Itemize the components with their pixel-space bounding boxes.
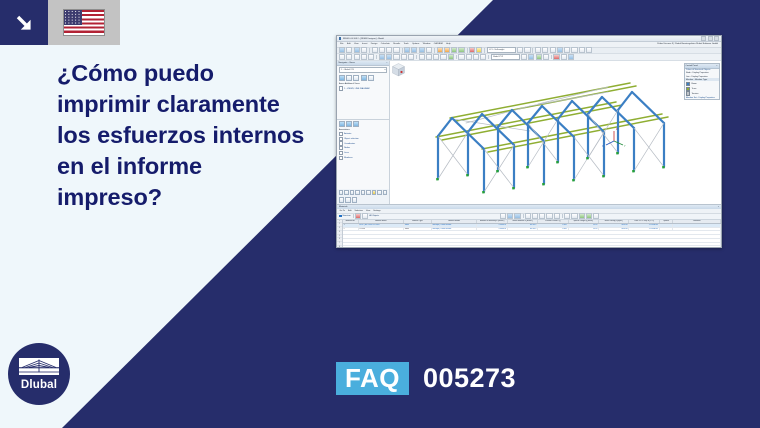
clipping-icon[interactable] (473, 54, 479, 60)
warnings-icon[interactable] (476, 47, 482, 53)
us-flag-icon (48, 0, 120, 45)
grid-icon[interactable] (411, 47, 417, 53)
license-label: Dlubal License 3 | Dlubal Beratungsbüro … (657, 43, 718, 45)
cell-material-model-2[interactable]: Isotropic | Linear Elastic (432, 228, 478, 231)
section-tool-icon[interactable] (393, 54, 399, 60)
free-load-icon[interactable] (440, 54, 446, 60)
title-line-5: impreso? (57, 182, 342, 213)
cell-comment-2[interactable] (673, 228, 721, 231)
annotation-edit-icon[interactable] (346, 121, 352, 127)
stop-icon[interactable] (553, 54, 559, 60)
view-orientation-cube[interactable] (390, 61, 407, 78)
menu-item-help[interactable]: Help (446, 43, 450, 45)
title-line-1: ¿Cómo puedo (57, 58, 342, 89)
legend-label-tension: Tension (691, 93, 698, 95)
annotation-label-0: Activate (344, 133, 351, 135)
toolbar2-separator-5 (551, 55, 552, 59)
material-tool-icon[interactable] (401, 54, 407, 60)
row-number: 8 (337, 246, 342, 248)
menu-item-options[interactable]: Options (412, 43, 419, 45)
toolbar2-separator-4 (488, 55, 489, 59)
cell-material-name-2[interactable]: C25/30 (359, 228, 405, 231)
open-icon[interactable] (346, 47, 352, 53)
nav-btn-7-icon[interactable] (372, 190, 376, 195)
flag-stars (64, 10, 82, 25)
menu-item-design[interactable]: Design (371, 43, 378, 45)
svg-text:Y: Y (624, 145, 626, 148)
view-edit-icon[interactable] (346, 75, 352, 81)
app-screenshot: RFEM 6.02.0012 - [RFEM Designer] - Model… (336, 35, 722, 248)
table-export-icon[interactable] (564, 213, 570, 219)
navigator-view-value: 1 - Global XYZ (341, 68, 354, 72)
menu-item-tools[interactable]: Tools (404, 43, 409, 45)
empty-cell[interactable] (343, 235, 721, 238)
table-structure-label: Structure (342, 215, 350, 217)
control-panel-title: Control Panel (686, 65, 698, 67)
toolbar-separator-6 (532, 48, 533, 52)
results-icon[interactable] (458, 47, 464, 53)
solid-tool-icon[interactable] (368, 54, 374, 60)
cell-material-name[interactable]: S235 | EN 1993-1-1:2005 (359, 224, 405, 227)
menu-item-calculate[interactable]: Calculate (381, 43, 390, 45)
empty-cell[interactable] (343, 239, 721, 242)
member-tool-icon[interactable] (354, 54, 360, 60)
window-controls[interactable] (701, 36, 719, 41)
nodal-load-icon[interactable] (419, 54, 425, 60)
table-delete-row-icon[interactable] (532, 213, 538, 219)
table-menu-settings[interactable]: Settings (373, 210, 380, 212)
table-filter-label: All Objects (369, 215, 379, 217)
table-print-icon[interactable] (571, 213, 577, 219)
structure-icon (339, 215, 342, 218)
cell-g-modulus-2[interactable]: 80769.2 (508, 228, 538, 231)
table-settings-icon[interactable] (593, 213, 599, 219)
arrow-down-right-icon (0, 0, 48, 45)
rotate-icon[interactable] (557, 47, 563, 53)
surface-load-icon[interactable] (433, 54, 439, 60)
supports-icon[interactable] (444, 47, 450, 53)
annotation-delete-icon[interactable] (353, 121, 359, 127)
tree-item-label: 1 - VIEWS, LINE DIAGRAM (344, 88, 369, 90)
cell-thermal-exp-2[interactable]: 1.2000E-05 (629, 228, 659, 231)
annotation-label-4: Lines (344, 152, 349, 154)
table-grid[interactable]: 1 2 3 4 5 6 7 8 9 10 11 12 13 14 (337, 220, 721, 248)
nav-btn-6-icon[interactable] (366, 190, 370, 195)
table-insert-row-icon[interactable] (525, 213, 531, 219)
imperfection-icon[interactable] (448, 54, 454, 60)
navigator-bottom-toolbar-2[interactable] (337, 196, 389, 203)
cell-mass-density[interactable]: 7850.00 (599, 224, 629, 227)
menu-item-edit[interactable]: Edit (347, 43, 351, 45)
axis-triad-icon: Z Y X (602, 128, 626, 148)
annotations-toolbar[interactable] (337, 120, 389, 128)
grid-columns: Material No. Material Name Material Type… (343, 220, 721, 248)
col-header-thermal-exp: Coeff. of Th. Exp. α [1/°C] (629, 220, 659, 223)
page-title: ¿Cómo puedo imprimir claramente los esfu… (57, 58, 342, 213)
cs-delete-icon[interactable] (543, 54, 549, 60)
nav-btn-5-icon[interactable] (361, 190, 365, 195)
empty-cell[interactable] (343, 243, 721, 246)
toolbar2-separator-2 (416, 55, 417, 59)
nav2-btn-2-icon[interactable] (345, 197, 350, 202)
surface-tool-icon[interactable] (361, 54, 367, 60)
cell-options-2[interactable] (660, 228, 674, 231)
legend-swatch-truss (686, 87, 691, 91)
toolbar-separator-2 (402, 48, 403, 52)
model-viewport[interactable]: Z Y X Control Panel × (390, 61, 721, 204)
zoom-in-icon[interactable] (535, 47, 541, 53)
cell-specific-weight-2[interactable]: 78.50 (569, 228, 599, 231)
cell-e-modulus[interactable]: 210000.0 (477, 224, 507, 227)
control-panel-close-icon[interactable]: × (716, 65, 717, 67)
new-model-icon[interactable] (339, 47, 345, 53)
nav-btn-2-icon[interactable] (344, 190, 348, 195)
col-header-specific-weight: Specific Weight γ [kN/m³] (569, 220, 599, 223)
navigator-bottom-toolbar[interactable] (337, 189, 389, 196)
wireframe-icon[interactable] (426, 47, 432, 53)
menu-item-insert[interactable]: Insert (362, 43, 367, 45)
cell-e-modulus-2[interactable]: 210000.0 (477, 228, 507, 231)
empty-cell[interactable] (343, 231, 721, 234)
table-toolbar-sep (353, 214, 354, 218)
nav-btn-3-icon[interactable] (350, 190, 354, 195)
model-3d-view: Z Y X (390, 61, 721, 204)
empty-cell[interactable] (343, 246, 721, 248)
measure-icon[interactable] (571, 47, 577, 53)
table-clear-icon[interactable] (554, 213, 560, 219)
panel-toggle-icon[interactable] (568, 54, 574, 60)
pan-icon[interactable] (550, 47, 556, 53)
cut-icon[interactable] (386, 47, 392, 53)
col-header-mass-density: Mass Density ρ [kg/m³] (599, 220, 629, 223)
loads-icon[interactable] (437, 47, 443, 53)
table-filter-color-icon[interactable] (355, 213, 361, 219)
cell-material-no[interactable]: 1 (343, 224, 359, 227)
table-sort-desc-icon[interactable] (507, 213, 513, 219)
fit-icon[interactable] (564, 47, 570, 53)
toolbar-separator-4 (467, 48, 468, 52)
table-filter-icon[interactable] (362, 213, 368, 219)
cell-material-type-2[interactable]: Steel (404, 228, 432, 231)
tree-item-views[interactable]: 1 - VIEWS, LINE DIAGRAM (339, 86, 387, 91)
annotation-label-3: Nodes (344, 147, 350, 149)
zoom-out-icon[interactable] (542, 47, 548, 53)
control-panel: Control Panel × Colors of Structural Obj… (684, 63, 720, 101)
col-header-g-modulus: Shear Modulus G [N/mm²] (508, 220, 538, 223)
cs-view-icon[interactable] (528, 54, 534, 60)
toolbar-separator-5 (484, 48, 485, 52)
col-header-material-type: Material Type (404, 220, 432, 223)
legend-swatch-tension (686, 91, 691, 95)
col-header-e-modulus: Modulus of Elasticity E [N/mm²] (477, 220, 507, 223)
render-icon[interactable] (419, 47, 425, 53)
annotations-tree[interactable]: Activate Object selection Coordinates No… (337, 131, 389, 161)
annotation-item-members[interactable]: Members (339, 155, 387, 160)
snap-icon[interactable] (579, 47, 585, 53)
table-menu-view[interactable]: View (366, 210, 370, 212)
member-load-icon[interactable] (426, 54, 432, 60)
table-view-icon[interactable] (404, 47, 410, 53)
table-paste-row-icon[interactable] (546, 213, 552, 219)
table-menu-selection[interactable]: Selection (354, 210, 362, 212)
navigator-panel: Navigator - Views × 1 - Global XYZ ▾ Are… (337, 61, 390, 204)
view-save-icon[interactable] (361, 75, 367, 81)
annotation-label-1: Object selection (344, 138, 359, 140)
table-row (343, 246, 721, 248)
toolbar-separator-3 (434, 48, 435, 52)
col-header-poisson: Poisson's Ratio ν [-] (538, 220, 568, 223)
menu-item-view[interactable]: View (354, 43, 359, 45)
refresh-icon[interactable] (561, 54, 567, 60)
table-calc-icon[interactable] (579, 213, 585, 219)
visibility-icon[interactable] (480, 54, 486, 60)
line-tool-icon[interactable] (346, 54, 352, 60)
navigator-close-icon[interactable]: × (386, 62, 387, 64)
menu-item-file[interactable]: File (340, 43, 343, 45)
faq-identifier: FAQ 005273 (336, 362, 516, 395)
table-copy-row-icon[interactable] (539, 213, 545, 219)
col-header-comment: Comment (673, 220, 721, 223)
col-header-material-no: Material No. (343, 220, 359, 223)
menu-item-results[interactable]: Results (393, 43, 400, 45)
navigator-view-select[interactable]: 1 - Global XYZ ▾ (339, 67, 387, 73)
minimize-button[interactable] (701, 36, 706, 41)
cell-poisson-2[interactable]: 0.300 (538, 228, 568, 231)
cell-material-no-2[interactable]: 2 (343, 228, 359, 231)
corner-badges (0, 0, 120, 45)
legend-label-beam: Beam (691, 83, 696, 85)
faq-badge: FAQ (336, 362, 409, 395)
cell-thermal-exp[interactable]: 1.2000E-05 (629, 224, 659, 227)
toolbar2-separator-3 (456, 55, 457, 59)
table-panel-close-icon[interactable]: × (718, 206, 719, 208)
col-header-options: Options (660, 220, 674, 223)
view-delete-icon[interactable] (353, 75, 359, 81)
table-body[interactable]: 1 S235 | EN 1993-1-1:2005 Steel Isotropi… (343, 224, 721, 248)
dlubal-logo-text: Dlubal (21, 380, 57, 391)
menu-item-cadbim[interactable]: CAD/BIM (434, 43, 443, 45)
navigator-toolbar[interactable] (337, 75, 389, 83)
cell-poisson[interactable]: 0.300 (538, 224, 568, 227)
cell-material-type[interactable]: Steel (404, 224, 432, 227)
nav-btn-4-icon[interactable] (355, 190, 359, 195)
app-title: RFEM 6.02.0012 - [RFEM Designer] - Model (343, 38, 384, 40)
table-filter-label-wrap[interactable]: All Objects (369, 215, 379, 217)
annotation-label-5: Members (344, 157, 353, 159)
navigator-header: Navigator - Views × (337, 61, 389, 67)
cs-edit-icon[interactable] (521, 54, 527, 60)
navigator-spacer-2 (337, 161, 389, 189)
coordinate-system-select[interactable]: Global XYZ (491, 54, 520, 60)
annotation-label-2: Coordinates (344, 143, 355, 145)
prev-case-icon[interactable] (517, 47, 523, 53)
dlubal-bridge-icon (19, 358, 59, 378)
toolbar2-separator (376, 55, 377, 59)
legend-label-truss: Truss (691, 88, 696, 90)
app-body: Navigator - Views × 1 - Global XYZ ▾ Are… (337, 61, 721, 204)
table-menu-edit[interactable]: Edit (348, 210, 352, 212)
navigator-spacer (337, 92, 389, 120)
calculate-icon[interactable] (451, 47, 457, 53)
chevron-down-icon[interactable]: ▾ (385, 68, 386, 72)
title-line-2: imprimir claramente (57, 89, 342, 120)
dimension-icon[interactable] (458, 54, 464, 60)
close-button[interactable] (714, 36, 719, 41)
undo-icon[interactable] (372, 47, 378, 53)
view-more-icon[interactable] (368, 75, 374, 81)
next-case-icon[interactable] (524, 47, 530, 53)
cell-mass-density-2[interactable]: 7850.00 (599, 228, 629, 231)
maximize-button[interactable] (708, 36, 713, 41)
toolbar-separator (369, 48, 370, 52)
cell-specific-weight[interactable]: 78.50 (569, 224, 599, 227)
delete-icon[interactable] (469, 47, 475, 53)
table-check-icon[interactable] (586, 213, 592, 219)
nav-btn-8-icon[interactable] (377, 190, 381, 195)
table-toolbar-sep-3 (562, 214, 563, 218)
table-structure-toggle[interactable]: Structure (339, 215, 351, 218)
print-icon[interactable] (361, 47, 367, 53)
control-panel-footer: Member Set - Display Properties (685, 96, 719, 99)
nav2-btn-3-icon[interactable] (352, 197, 357, 202)
table-toolbar-sep-2 (523, 214, 524, 218)
title-line-4: en el informe (57, 151, 342, 182)
legend-swatch-beam (686, 82, 691, 86)
cell-options[interactable] (660, 224, 674, 227)
save-icon[interactable] (354, 47, 360, 53)
support-tool-icon[interactable] (379, 54, 385, 60)
app-icon (339, 37, 341, 39)
col-header-material-name: Material Name (359, 220, 405, 223)
copy-icon[interactable] (393, 47, 399, 53)
cs-add-icon[interactable] (536, 54, 542, 60)
faq-number: 005273 (423, 365, 516, 392)
cell-comment[interactable] (673, 224, 721, 227)
cell-g-modulus[interactable]: 80769.2 (508, 224, 538, 227)
thickness-tool-icon[interactable] (408, 54, 414, 60)
col-header-material-model: Material Model (432, 220, 478, 223)
load-case-select[interactable]: LC1 - Self-weight (487, 47, 516, 53)
nav-btn-9-icon[interactable] (383, 190, 387, 195)
cell-material-model[interactable]: Isotropic | Linear Elastic (432, 224, 478, 227)
table-autofit-icon[interactable] (514, 213, 520, 219)
table-panel: Materials × Go To Edit Selection View Se… (337, 204, 721, 248)
dlubal-logo: Dlubal (8, 343, 70, 405)
text-icon[interactable] (466, 54, 472, 60)
faq-card: ¿Cómo puedo imprimir claramente los esfu… (0, 0, 760, 428)
flag-graphic (63, 9, 105, 36)
title-line-3: los esfuerzos internos (57, 120, 342, 151)
layers-icon[interactable] (586, 47, 592, 53)
table-sort-asc-icon[interactable] (500, 213, 506, 219)
flag-canton (64, 10, 82, 25)
menu-item-window[interactable]: Window (423, 43, 431, 45)
redo-icon[interactable] (379, 47, 385, 53)
hinge-tool-icon[interactable] (386, 54, 392, 60)
